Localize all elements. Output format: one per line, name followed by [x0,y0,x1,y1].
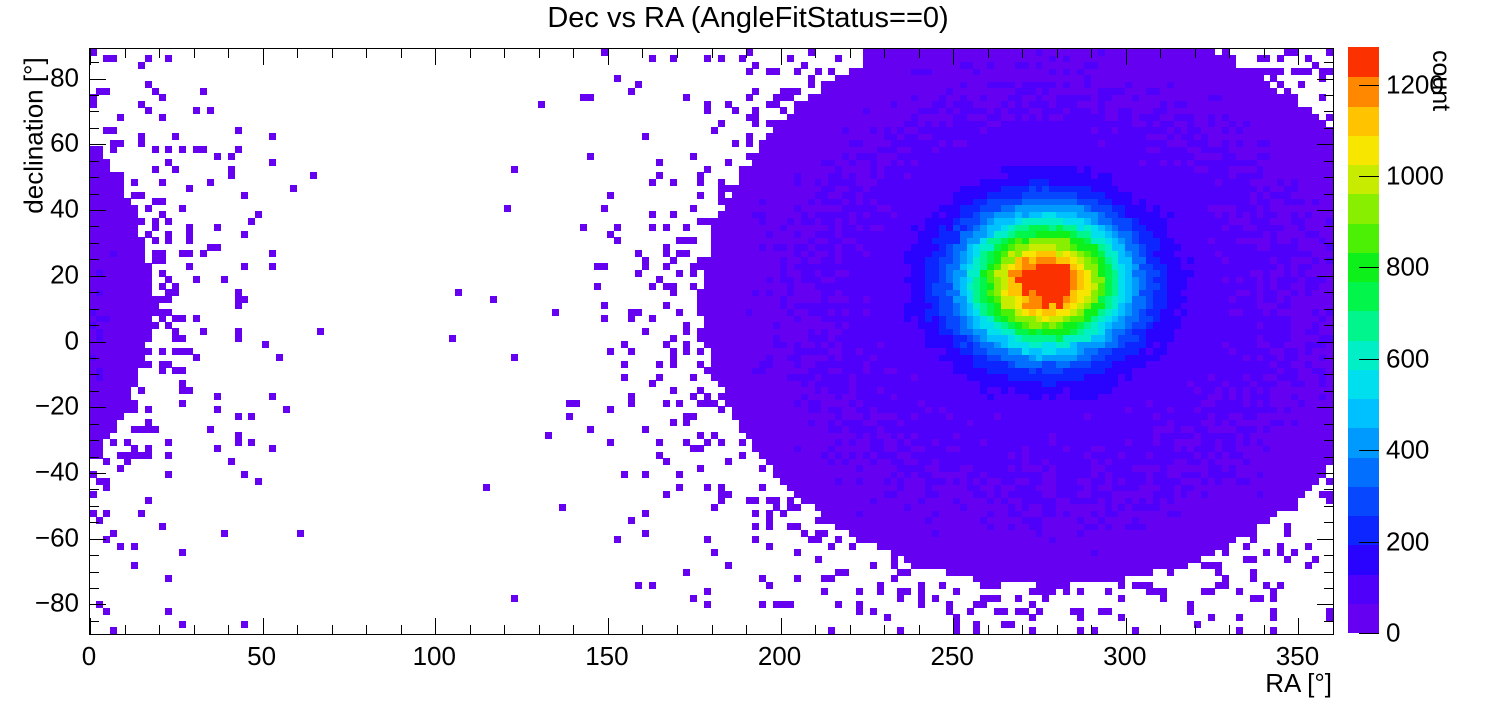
x-minor-tick [815,625,816,634]
y-minor-tick [90,161,99,162]
y-minor-tick-right [1324,588,1333,589]
color-bar-band [1348,281,1379,311]
color-bar [1348,48,1379,633]
x-major-tick [1298,618,1299,634]
y-major-tick [90,144,106,145]
x-minor-tick [884,625,885,634]
color-bar-band [1348,164,1379,194]
color-bar-tick-label: 600 [1386,344,1429,375]
x-axis-title: RA [°] [1265,668,1332,699]
y-major-tick [90,473,106,474]
color-bar-band [1348,515,1379,545]
color-bar-band [1348,603,1379,633]
x-minor-tick [712,625,713,634]
y-minor-tick-right [1324,358,1333,359]
x-minor-tick-top [919,49,920,58]
y-minor-tick [90,358,99,359]
y-minor-tick-right [1324,489,1333,490]
y-minor-tick [90,292,99,293]
y-major-tick [90,407,106,408]
color-bar-tick-label: 1000 [1386,161,1444,192]
x-minor-tick-top [1057,49,1058,58]
y-major-tick-right [1317,210,1333,211]
y-minor-tick [90,243,99,244]
x-minor-tick-top [642,49,643,58]
y-major-tick-right [1317,473,1333,474]
color-bar-band [1348,106,1379,136]
x-tick-label: 300 [1103,641,1146,672]
x-minor-tick [125,625,126,634]
y-minor-tick [90,62,99,63]
y-major-tick [90,539,106,540]
page-title: Dec vs RA (AngleFitStatus==0) [0,2,1496,35]
x-major-tick-top [1126,49,1127,65]
x-minor-tick-top [746,49,747,58]
y-minor-tick-right [1324,95,1333,96]
x-minor-tick-top [988,49,989,58]
x-minor-tick [1057,625,1058,634]
x-minor-tick [746,625,747,634]
y-major-tick [90,342,106,343]
y-minor-tick [90,522,99,523]
y-minor-tick [90,194,99,195]
x-minor-tick-top [332,49,333,58]
x-major-tick [608,618,609,634]
x-minor-tick-top [1195,49,1196,58]
x-minor-tick [677,625,678,634]
color-bar-tick [1359,542,1379,543]
x-tick-label: 0 [82,641,96,672]
x-tick-label: 100 [413,641,456,672]
x-minor-tick-top [297,49,298,58]
color-bar-band [1348,398,1379,428]
x-minor-tick-top [1229,49,1230,58]
y-minor-tick [90,440,99,441]
color-bar-band [1348,486,1379,516]
y-minor-tick-right [1324,457,1333,458]
x-minor-tick [573,625,574,634]
color-bar-band [1348,340,1379,370]
x-minor-tick [1333,625,1334,634]
color-bar-band [1348,223,1379,253]
y-minor-tick-right [1324,424,1333,425]
y-minor-tick-right [1324,522,1333,523]
x-minor-tick [194,625,195,634]
y-minor-tick-right [1324,111,1333,112]
y-minor-tick [90,325,99,326]
x-minor-tick [470,625,471,634]
x-minor-tick-top [1022,49,1023,58]
x-major-tick [263,618,264,634]
histogram-canvas [90,49,1333,634]
x-minor-tick-top [573,49,574,58]
y-minor-tick [90,555,99,556]
x-major-tick [953,618,954,634]
x-minor-tick-top [539,49,540,58]
color-bar-band [1348,545,1379,575]
y-minor-tick-right [1324,194,1333,195]
x-tick-label: 200 [758,641,801,672]
y-major-tick [90,604,106,605]
x-major-tick-top [608,49,609,65]
y-minor-tick-right [1324,621,1333,622]
plot-frame [89,48,1334,635]
y-minor-tick-right [1324,259,1333,260]
y-axis-title: declination [°] [19,36,50,236]
y-major-tick-right [1317,604,1333,605]
y-minor-tick-right [1324,309,1333,310]
x-minor-tick-top [850,49,851,58]
color-bar-band [1348,135,1379,165]
x-minor-tick [366,625,367,634]
y-minor-tick [90,621,99,622]
x-minor-tick [332,625,333,634]
x-minor-tick [1195,625,1196,634]
color-bar-tick [1359,85,1379,86]
color-bar-band [1348,77,1379,107]
color-bar-tick [1359,359,1379,360]
y-minor-tick-right [1324,506,1333,507]
color-bar-band [1348,194,1379,224]
x-minor-tick-top [470,49,471,58]
x-major-tick [435,618,436,634]
x-tick-label: 250 [930,641,973,672]
y-minor-tick [90,374,99,375]
y-minor-tick-right [1324,391,1333,392]
y-major-tick [90,79,106,80]
y-tick-label: 20 [0,259,79,290]
color-bar-tick-label: 0 [1386,618,1400,649]
x-minor-tick [850,625,851,634]
x-minor-tick [159,625,160,634]
x-major-tick [781,618,782,634]
x-minor-tick-top [712,49,713,58]
y-minor-tick [90,226,99,227]
x-minor-tick-top [401,49,402,58]
x-minor-tick [539,625,540,634]
x-minor-tick [401,625,402,634]
y-major-tick [90,276,106,277]
y-major-tick-right [1317,407,1333,408]
x-minor-tick [504,625,505,634]
y-minor-tick-right [1324,128,1333,129]
x-major-tick-top [781,49,782,65]
y-minor-tick-right [1324,555,1333,556]
y-major-tick-right [1317,79,1333,80]
y-tick-label: 0 [0,325,79,356]
color-bar-tick-label: 400 [1386,435,1429,466]
x-major-tick [1126,618,1127,634]
y-tick-label: −60 [0,522,79,553]
x-major-tick-top [953,49,954,65]
x-major-tick-top [263,49,264,65]
y-tick-label: −20 [0,391,79,422]
y-major-tick-right [1317,144,1333,145]
y-minor-tick-right [1324,374,1333,375]
color-bar-tick-label: 800 [1386,252,1429,283]
x-minor-tick-top [1264,49,1265,58]
y-minor-tick [90,259,99,260]
y-minor-tick [90,391,99,392]
x-minor-tick [1160,625,1161,634]
y-minor-tick-right [1324,292,1333,293]
color-bar-band [1348,369,1379,399]
x-minor-tick [642,625,643,634]
x-minor-tick [988,625,989,634]
y-minor-tick [90,309,99,310]
root-canvas: Dec vs RA (AngleFitStatus==0) 0501001502… [0,0,1496,722]
x-minor-tick [919,625,920,634]
y-minor-tick-right [1324,325,1333,326]
color-bar-tick [1359,267,1379,268]
color-bar-band [1348,457,1379,487]
x-minor-tick-top [815,49,816,58]
color-bar-tick [1359,176,1379,177]
y-minor-tick [90,457,99,458]
x-minor-tick [1022,625,1023,634]
color-bar-tick [1359,450,1379,451]
y-minor-tick [90,489,99,490]
x-minor-tick-top [159,49,160,58]
y-minor-tick [90,572,99,573]
x-tick-label: 50 [247,641,276,672]
x-minor-tick-top [677,49,678,58]
y-minor-tick-right [1324,161,1333,162]
y-minor-tick [90,506,99,507]
x-minor-tick [1229,625,1230,634]
x-minor-tick-top [366,49,367,58]
y-minor-tick [90,128,99,129]
y-major-tick [90,210,106,211]
y-minor-tick-right [1324,177,1333,178]
y-minor-tick [90,424,99,425]
y-minor-tick-right [1324,243,1333,244]
y-tick-label: −40 [0,456,79,487]
y-minor-tick-right [1324,572,1333,573]
y-minor-tick [90,588,99,589]
x-minor-tick-top [125,49,126,58]
x-minor-tick-top [194,49,195,58]
y-major-tick-right [1317,342,1333,343]
y-minor-tick-right [1324,226,1333,227]
x-minor-tick [228,625,229,634]
color-bar-title: count [1426,50,1455,111]
x-minor-tick [1091,625,1092,634]
y-minor-tick-right [1324,62,1333,63]
color-bar-tick-label: 200 [1386,527,1429,558]
x-tick-label: 150 [585,641,628,672]
color-bar-band [1348,574,1379,604]
y-minor-tick [90,177,99,178]
y-major-tick-right [1317,539,1333,540]
y-minor-tick-right [1324,440,1333,441]
x-major-tick-top [435,49,436,65]
x-minor-tick-top [1160,49,1161,58]
color-bar-tick [1359,633,1379,634]
color-bar-band [1348,47,1379,77]
x-minor-tick-top [884,49,885,58]
y-minor-tick [90,95,99,96]
x-minor-tick-top [228,49,229,58]
x-minor-tick [297,625,298,634]
x-minor-tick-top [1091,49,1092,58]
y-minor-tick [90,111,99,112]
x-major-tick-top [1298,49,1299,65]
y-tick-label: −80 [0,588,79,619]
x-minor-tick [1264,625,1265,634]
color-bar-band [1348,311,1379,341]
color-bar-band [1348,428,1379,458]
x-minor-tick-top [1333,49,1334,58]
y-major-tick-right [1317,276,1333,277]
x-minor-tick-top [504,49,505,58]
